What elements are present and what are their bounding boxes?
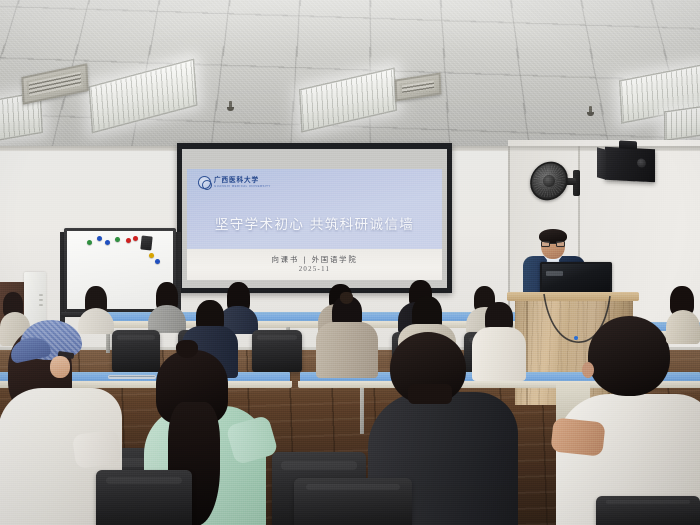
magnet-icon xyxy=(115,237,120,242)
magnet-icon xyxy=(133,236,138,241)
screen-surface: 广西医科大学 GUANGXI MEDICAL UNIVERSITY 坚守学术初心… xyxy=(182,149,447,288)
chair[interactable] xyxy=(294,478,412,525)
slide-title: 坚守学术初心 共筑科研诚信墙 xyxy=(187,213,442,233)
chair[interactable] xyxy=(96,470,192,525)
neck xyxy=(408,384,452,404)
wall-fan-icon xyxy=(530,162,574,206)
magnet-icon xyxy=(155,259,160,264)
face xyxy=(50,356,70,378)
arm xyxy=(550,417,605,456)
whiteboard-eraser-icon xyxy=(140,235,152,250)
head xyxy=(588,316,670,396)
ceiling xyxy=(0,0,700,152)
classroom-photo: 广西医科大学 GUANGXI MEDICAL UNIVERSITY 坚守学术初心… xyxy=(0,0,700,525)
magnet-icon xyxy=(126,238,131,243)
projection-screen: 广西医科大学 GUANGXI MEDICAL UNIVERSITY 坚守学术初心… xyxy=(177,143,452,293)
wall-speaker-icon xyxy=(605,147,655,183)
university-name-en: GUANGXI MEDICAL UNIVERSITY xyxy=(214,185,271,188)
podium-top-surface xyxy=(507,292,639,301)
fan-hub xyxy=(543,175,555,187)
audience-member xyxy=(148,282,186,332)
university-name-cn: 广西医科大学 xyxy=(214,177,271,184)
speaker-side xyxy=(597,147,606,180)
magnet-icon xyxy=(105,240,110,245)
magnet-icon xyxy=(149,253,154,258)
magnet-icon xyxy=(97,236,102,241)
chair[interactable] xyxy=(596,496,700,525)
presentation-slide: 广西医科大学 GUANGXI MEDICAL UNIVERSITY 坚守学术初心… xyxy=(187,169,442,280)
speaker-cone-icon xyxy=(637,158,646,167)
magnet-icon xyxy=(87,240,92,245)
speaker-bracket xyxy=(619,140,637,149)
audience-member xyxy=(560,316,700,525)
university-seal-icon xyxy=(198,176,211,189)
arm xyxy=(72,429,122,469)
ponytail xyxy=(176,340,198,358)
slide-date: 2025-11 xyxy=(187,266,442,273)
slide-subtitle: 向课书 | 外国语学院 xyxy=(187,254,442,265)
university-logo: 广西医科大学 GUANGXI MEDICAL UNIVERSITY xyxy=(198,176,271,189)
glasses-icon xyxy=(541,241,565,247)
audience-member xyxy=(666,286,700,342)
ear xyxy=(582,362,594,378)
